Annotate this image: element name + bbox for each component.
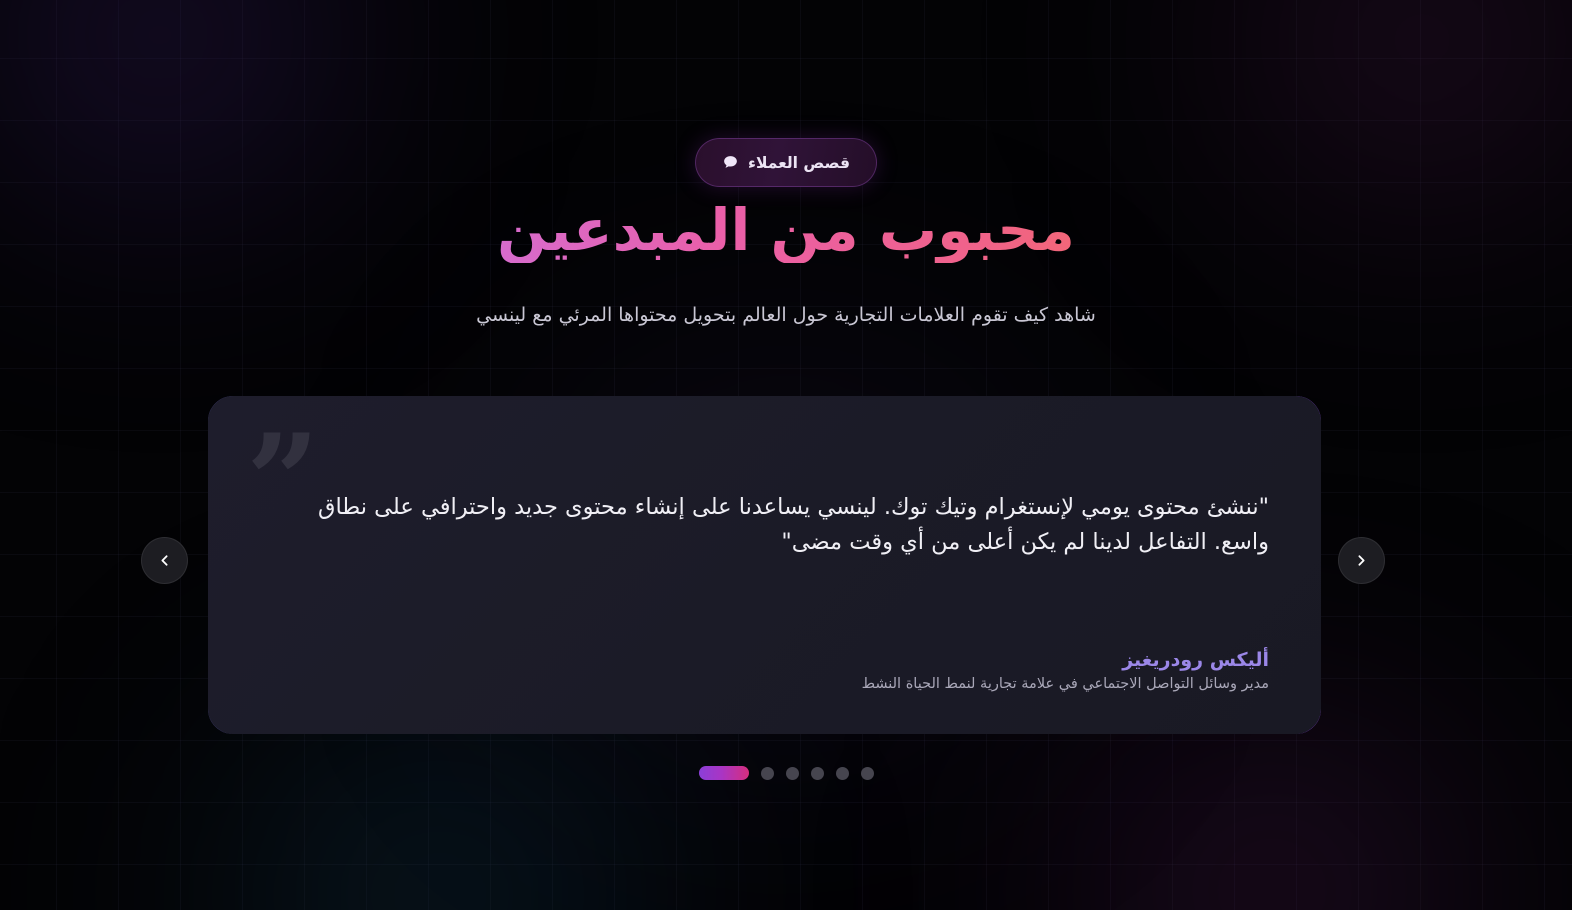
badge-label: قصص العملاء: [748, 154, 850, 172]
author-name: أليكس رودريغيز: [862, 649, 1269, 671]
carousel-dot-4[interactable]: [811, 767, 824, 780]
carousel-dot-3[interactable]: [786, 767, 799, 780]
speech-bubble-icon: [722, 154, 739, 171]
page-subtitle: شاهد كيف تقوم العلامات التجارية حول العا…: [0, 304, 1572, 326]
carousel-prev-button[interactable]: [141, 537, 188, 584]
carousel-dot-5[interactable]: [836, 767, 849, 780]
testimonial-card-content: ” "ننشئ محتوى يومي لإنستغرام وتيك توك. ل…: [208, 396, 1321, 734]
chevron-left-icon: [156, 552, 173, 569]
customer-stories-badge[interactable]: قصص العملاء: [695, 138, 877, 187]
testimonial-author: أليكس رودريغيز مدير وسائل التواصل الاجتم…: [862, 649, 1269, 692]
chevron-right-icon: [1353, 552, 1370, 569]
carousel-pagination: [0, 766, 1572, 780]
carousel-dot-6[interactable]: [861, 767, 874, 780]
carousel-dot-1[interactable]: [699, 766, 749, 780]
testimonial-carousel: ” "ننشئ محتوى يومي لإنستغرام وتيك توك. ل…: [0, 395, 1572, 737]
page-title: محبوب من المبدعين: [0, 198, 1572, 263]
testimonial-card: ” "ننشئ محتوى يومي لإنستغرام وتيك توك. ل…: [207, 395, 1322, 735]
badge-container: قصص العملاء: [0, 138, 1572, 187]
carousel-dot-2[interactable]: [761, 767, 774, 780]
author-role: مدير وسائل التواصل الاجتماعي في علامة تج…: [862, 676, 1269, 692]
testimonial-quote: "ننشئ محتوى يومي لإنستغرام وتيك توك. لين…: [260, 490, 1269, 560]
carousel-next-button[interactable]: [1338, 537, 1385, 584]
testimonials-section: قصص العملاء محبوب من المبدعين شاهد كيف ت…: [0, 0, 1572, 910]
